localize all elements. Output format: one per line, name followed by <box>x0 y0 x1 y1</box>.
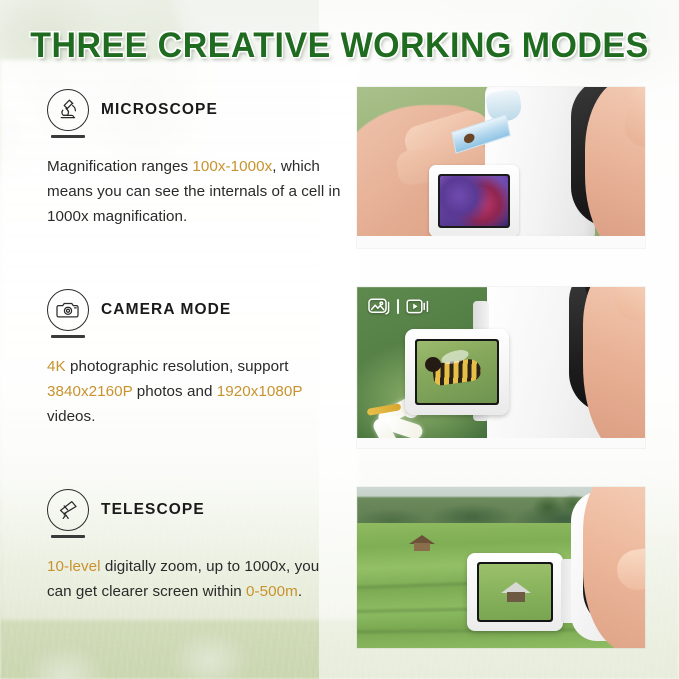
microscope-heading-row: MICROSCOPE <box>47 87 347 133</box>
telescope-icon <box>47 489 89 531</box>
lcd-frame <box>467 553 563 631</box>
video-camera-icon <box>406 297 430 316</box>
camera-icon-underline <box>51 335 85 338</box>
microscope-body-text: Magnification ranges 100x-1000x, which m… <box>47 154 347 229</box>
camera-mode-photo <box>357 287 645 448</box>
telescope-icon-underline <box>51 535 85 538</box>
microscope-heading: MICROSCOPE <box>101 101 218 119</box>
field-hut <box>409 535 435 551</box>
lcd-screen <box>438 174 510 228</box>
microscope-icon-underline <box>51 135 85 138</box>
hand-right <box>585 87 645 248</box>
microscope-icon <box>47 89 89 131</box>
lcd-frame <box>405 329 509 415</box>
infographic-page: THREE CREATIVE WORKING MODES MICROSCOPE <box>0 0 679 679</box>
telescope-heading-row: TELESCOPE <box>47 487 347 533</box>
overlay-separator <box>397 299 399 314</box>
bee-image <box>417 341 497 403</box>
camera-body-part: photographic resolution, support <box>66 358 289 375</box>
camera-highlight-photo-res: 3840x2160P <box>47 383 133 400</box>
thumb <box>621 87 645 150</box>
zoomed-hut <box>501 582 531 602</box>
lcd-screen <box>415 339 499 405</box>
thumb <box>614 546 645 593</box>
zoomed-landscape-image <box>479 564 551 620</box>
photo-gallery-icon <box>368 297 390 316</box>
page-title: THREE CREATIVE WORKING MODES <box>10 26 669 66</box>
microscope-highlight-magnification: 100x-1000x <box>192 158 272 175</box>
lcd-screen <box>477 562 553 622</box>
lcd-frame <box>429 165 519 237</box>
camera-text-column: CAMERA MODE 4K photographic resolution, … <box>47 287 347 429</box>
telescope-body-part: . <box>298 583 302 600</box>
microscope-text-column: MICROSCOPE Magnification ranges 100x-100… <box>47 87 347 229</box>
camera-highlight-4k: 4K <box>47 358 66 375</box>
microscope-body-part: Magnification ranges <box>47 158 192 175</box>
telescope-text-column: TELESCOPE 10-level digitally zoom, up to… <box>47 487 347 604</box>
thumb <box>609 287 645 326</box>
telescope-photo <box>357 487 645 648</box>
telescope-highlight-zoom-level: 10-level <box>47 558 101 575</box>
camera-heading-row: CAMERA MODE <box>47 287 347 333</box>
mode-overlay-icons <box>368 297 430 316</box>
telescope-body-text: 10-level digitally zoom, up to 1000x, yo… <box>47 554 347 604</box>
camera-icon <box>47 289 89 331</box>
camera-body-part: videos. <box>47 408 95 425</box>
camera-body-part: photos and <box>133 383 217 400</box>
telescope-heading: TELESCOPE <box>101 501 205 519</box>
cell-image <box>440 176 508 226</box>
camera-heading: CAMERA MODE <box>101 301 231 319</box>
telescope-highlight-range: 0-500m <box>246 583 298 600</box>
microscope-photo <box>357 87 645 248</box>
camera-highlight-video-res: 1920x1080P <box>217 383 303 400</box>
camera-body-text: 4K photographic resolution, support 3840… <box>47 354 347 429</box>
